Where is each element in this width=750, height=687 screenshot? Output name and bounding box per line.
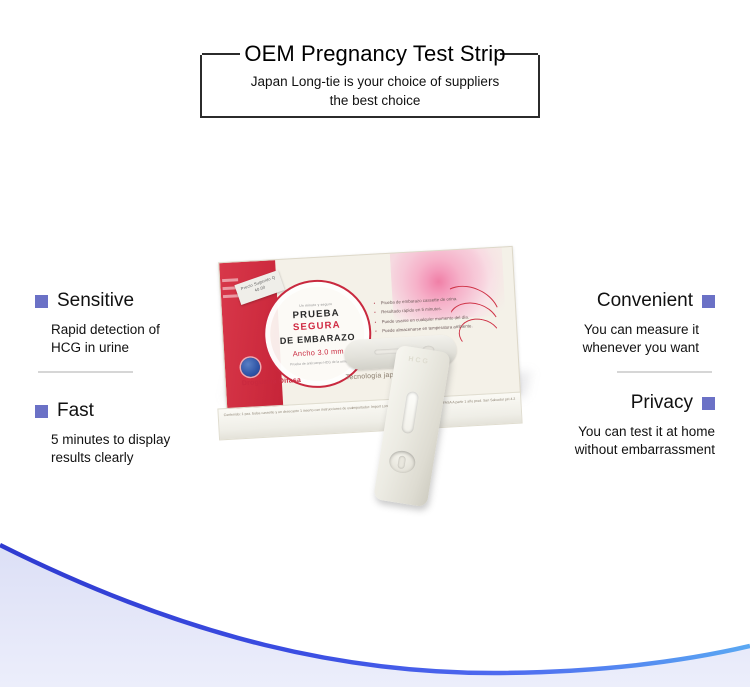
feature-fast-title: Fast xyxy=(57,400,94,422)
page-title: OEM Pregnancy Test Strip xyxy=(0,41,750,67)
square-bullet-icon xyxy=(35,405,48,418)
label-top-small: Un minuto y seguro xyxy=(299,302,332,308)
feature-sensitive-title: Sensitive xyxy=(57,290,134,312)
feature-convenient-title: Convenient xyxy=(597,290,693,312)
label-line-4: Ancho 3.0 mm xyxy=(292,346,344,358)
cassette-hcg-mark: HCG xyxy=(408,356,430,366)
left-divider xyxy=(38,371,133,373)
subtitle-line-1: Japan Long-tie is your choice of supplie… xyxy=(0,72,750,91)
cassette-sample-well xyxy=(388,449,417,475)
cassette-result-window xyxy=(401,391,419,434)
carton-bullet-list: Prueba de embarazo cassette de orina. Re… xyxy=(373,292,495,336)
square-bullet-icon xyxy=(702,397,715,410)
label-bottom-small: Prueba de anticuerpo HCG de la orina xyxy=(290,359,348,366)
product-banner: OEM Pregnancy Test Strip Japan Long-tie … xyxy=(0,0,750,687)
carton-front-face: Precio Sugerido Q 40.00 Un minuto y segu… xyxy=(218,246,521,410)
feature-privacy-title: Privacy xyxy=(631,392,693,414)
product-carton: Precio Sugerido Q 40.00 Un minuto y segu… xyxy=(218,246,521,410)
product-photo: Precio Sugerido Q 40.00 Un minuto y segu… xyxy=(210,240,540,510)
right-divider xyxy=(617,371,712,373)
subtitle-line-2: the best choice xyxy=(0,91,750,110)
carton-stripe xyxy=(223,294,239,298)
square-bullet-icon xyxy=(702,295,715,308)
label-line-3: DE EMBARAZO xyxy=(280,331,356,347)
page-subtitle: Japan Long-tie is your choice of supplie… xyxy=(0,72,750,110)
square-bullet-icon xyxy=(35,295,48,308)
carton-stripe xyxy=(222,278,238,282)
fineprint-left: Contenido: 1 pza. bolsa cassette y un de… xyxy=(224,406,353,418)
bottom-swoosh-decoration xyxy=(0,522,750,687)
